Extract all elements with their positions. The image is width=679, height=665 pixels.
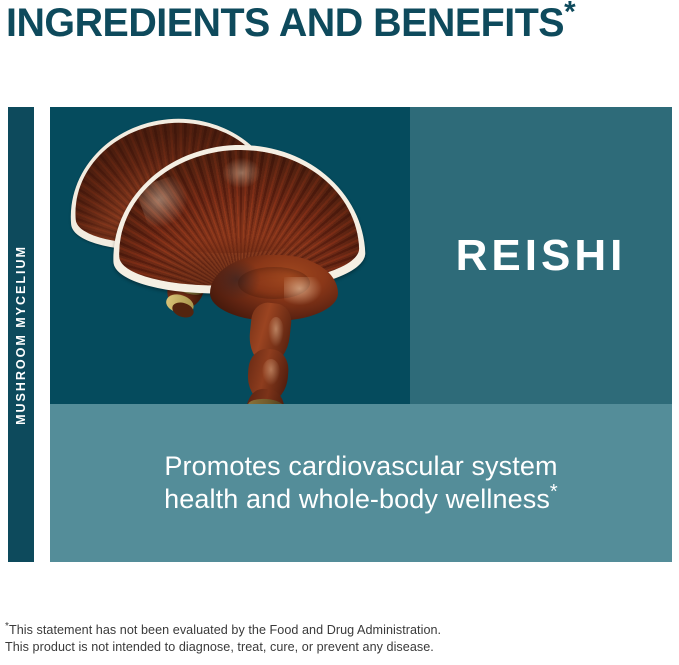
category-bar: MUSHROOM MYCELIUM (8, 107, 34, 562)
page-title-text: INGREDIENTS AND BENEFITS (6, 1, 564, 45)
benefit-footnote-marker: * (550, 481, 558, 503)
cap-gloss-right (221, 157, 260, 188)
stem-highlight-2 (262, 359, 280, 385)
disclaimer-line-1: This statement has not been evaluated by… (9, 623, 441, 637)
ingredient-card: REISHI Promotes cardiovascular systemhea… (50, 107, 672, 562)
ingredient-name: REISHI (456, 234, 627, 278)
disclaimer-line-2: This product is not intended to diagnose… (5, 639, 645, 656)
ingredient-name-panel: REISHI (410, 107, 672, 404)
page-title: INGREDIENTS AND BENEFITS* (6, 2, 668, 44)
benefit-text: Promotes cardiovascular systemhealth and… (146, 450, 576, 516)
category-bar-label: MUSHROOM MYCELIUM (14, 245, 28, 425)
page-title-footnote-marker: * (564, 0, 575, 29)
ingredient-photo-panel (50, 107, 410, 404)
ingredient-benefit-panel: Promotes cardiovascular systemhealth and… (50, 404, 672, 562)
benefit-line-2: health and whole-body wellness (164, 484, 550, 514)
benefit-line-1: Promotes cardiovascular system (164, 451, 557, 481)
stem-highlight-1 (268, 317, 284, 347)
disclaimer: *This statement has not been evaluated b… (5, 622, 645, 656)
reishi-stem-front (236, 303, 302, 404)
